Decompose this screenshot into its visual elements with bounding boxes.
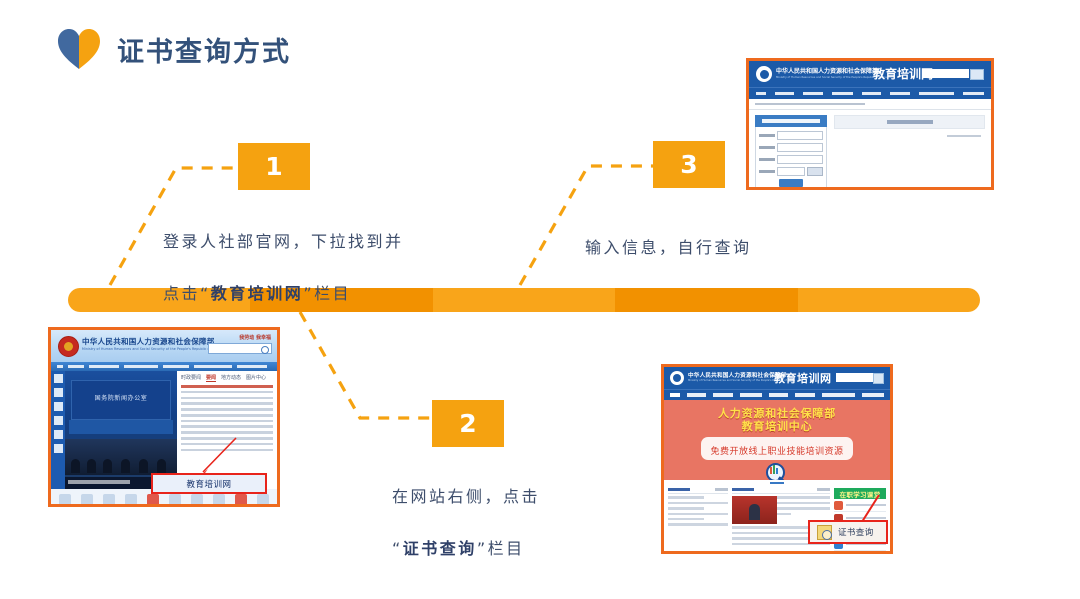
captcha-image[interactable] [807,167,823,176]
s3-result-title-bar [834,115,985,129]
step2-line1: 在网站右侧，点击 [392,487,540,506]
s1-highlight-label: 教育培训网 [186,478,231,490]
s3-result-area [834,115,985,188]
s3-field-cert-no[interactable] [759,155,823,164]
s3-nav-item[interactable] [775,92,794,96]
s3-nav-item[interactable] [890,92,909,96]
progress-segment [798,288,980,312]
s3-nav-item[interactable] [919,92,954,96]
step-caption-3: 输入信息，自行查询 [585,209,752,287]
s3-field-name[interactable] [759,131,823,140]
s1-highlight-education-link[interactable]: 教育培训网 [151,473,267,494]
slide-canvas: 证书查询方式 1 2 3 登录人社部官网，下拉找到并 点击“教育培训网”栏目 在… [0,0,1080,599]
s3-nav-item[interactable] [803,92,822,96]
s3-field-captcha[interactable] [759,167,823,176]
screenshot-certificate-query-page: 中华人民共和国人力资源和社会保障部 Ministry of Human Reso… [746,58,994,190]
step-number-1: 1 [238,143,310,190]
progress-segment [433,288,615,312]
s3-nav-item[interactable] [963,92,984,96]
certificate-query-icon [817,525,832,540]
s3-nav-item-active[interactable] [756,92,766,96]
heart-icon [57,28,101,70]
step1-line1: 登录人社部官网，下拉找到并 [163,232,404,251]
step2-line2-bold: 证书查询 [403,539,477,558]
s3-search-input[interactable] [923,69,969,78]
s3-header: 中华人民共和国人力资源和社会保障部 Ministry of Human Reso… [749,61,991,87]
s3-ministry-name-cn: 中华人民共和国人力资源和社会保障部 [776,66,878,75]
screenshot-mohrss-homepage: 中华人民共和国人力资源和社会保障部 Ministry of Human Reso… [48,327,280,507]
s3-nav-item[interactable] [862,92,881,96]
page-title-group: 证书查询方式 [57,28,291,70]
step2-line2-prefix: “ [392,539,403,558]
s3-query-form [755,115,827,188]
s3-nav-bar[interactable] [749,87,991,99]
s3-ministry-name-en: Ministry of Human Resources and Social S… [776,75,887,79]
step-caption-1: 登录人社部官网，下拉找到并 点击“教育培训网”栏目 [163,203,404,333]
s3-form-title-bar [755,115,827,127]
step-caption-2: 在网站右侧，点击 “证书查询”栏目 [392,458,540,588]
step1-line2-suffix: ”栏目 [303,284,351,303]
s3-result-note [834,135,985,137]
breadcrumb [749,99,991,110]
s3-site-logo-icon [756,66,772,82]
step-number-3: 3 [653,141,725,188]
step2-line2-suffix: ”栏目 [477,539,525,558]
step-number-2: 2 [432,400,504,447]
screenshot-training-portal-home: 中华人民共和国人力资源和社会保障部 Ministry of Human Reso… [661,364,893,554]
search-icon[interactable] [970,69,984,80]
s3-form-body [755,127,827,190]
progress-segment [615,288,797,312]
s2-highlight-label: 证书查询 [838,526,874,538]
s3-main-area [749,110,991,190]
s3-nav-item[interactable] [832,92,853,96]
s3-field-id[interactable] [759,143,823,152]
step1-line2-prefix: 点击“ [163,284,211,303]
step3-line1: 输入信息，自行查询 [585,238,752,257]
s3-submit-button[interactable] [779,179,803,187]
step1-line2-bold: 教育培训网 [211,284,304,303]
s2-highlight-certificate-query[interactable]: 证书查询 [808,520,888,544]
page-title: 证书查询方式 [117,30,291,69]
